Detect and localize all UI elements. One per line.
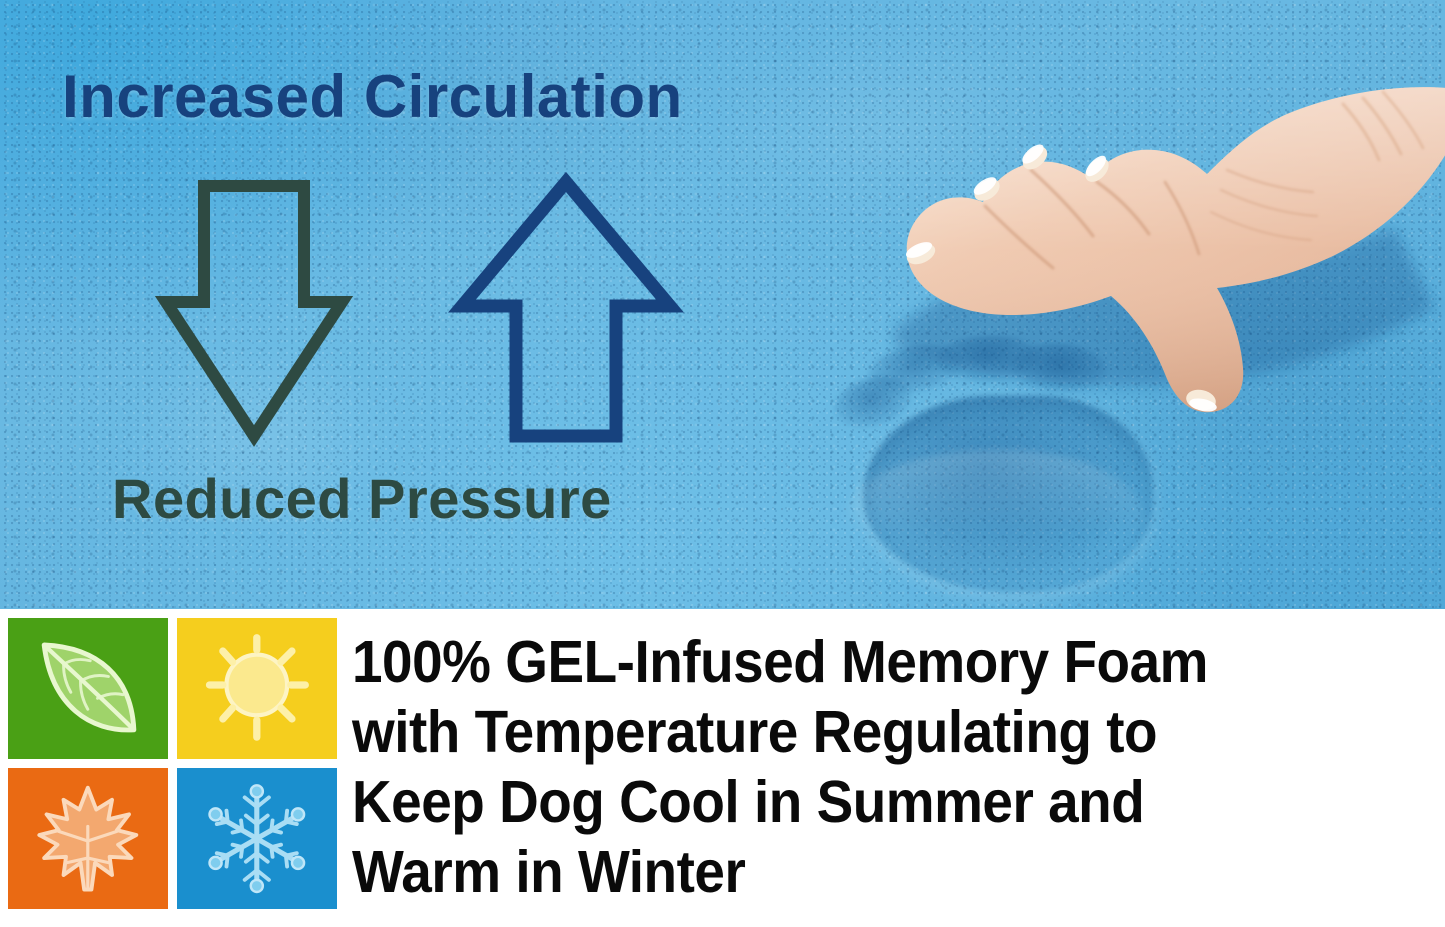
pressure-circulation-arrows (130, 160, 690, 460)
leaf-icon (19, 628, 157, 749)
down-arrow-icon (166, 186, 342, 436)
snowflake-icon (188, 778, 326, 899)
headline-line-3: Keep Dog Cool in Summer and (352, 767, 1361, 837)
season-tile-spring (8, 618, 168, 759)
season-tile-grid (8, 618, 337, 916)
up-arrow-icon (462, 182, 670, 436)
headline-line-1: 100% GEL-Infused Memory Foam (352, 627, 1361, 697)
sun-icon (188, 628, 326, 749)
caption-reduced-pressure: Reduced Pressure (112, 466, 612, 531)
season-tile-summer (177, 618, 337, 759)
hand-photo (835, 78, 1445, 478)
season-tile-winter (177, 768, 337, 909)
headline-line-2: with Temperature Regulating to (352, 697, 1361, 767)
maple-leaf-icon (19, 778, 157, 899)
headline-line-4: Warm in Winter (352, 837, 1361, 907)
caption-increased-circulation: Increased Circulation (62, 62, 683, 131)
product-feature-image: Increased Circulation Reduced Pressure (0, 0, 1445, 927)
feature-headline: 100% GEL-Infused Memory Foam with Temper… (352, 627, 1361, 907)
season-tile-autumn (8, 768, 168, 909)
feature-info-strip: 100% GEL-Infused Memory Foam with Temper… (0, 609, 1445, 927)
foam-photo-panel: Increased Circulation Reduced Pressure (0, 0, 1445, 609)
